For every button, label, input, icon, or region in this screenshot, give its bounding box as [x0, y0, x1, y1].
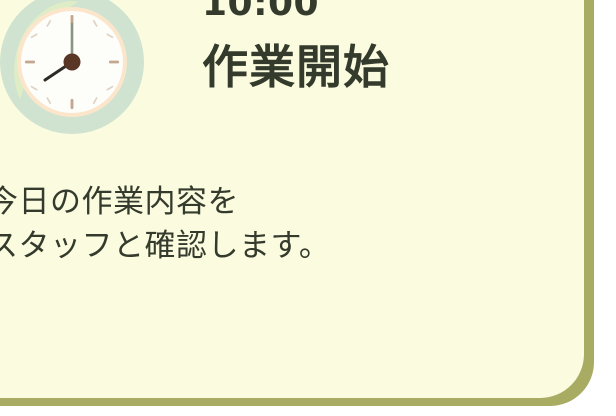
analog-clock-graphic	[0, 0, 152, 141]
schedule-card[interactable]: 10:00 作業開始 今日の作業内容を スタッフと確認します。	[0, 0, 584, 398]
description-line-2: スタッフと確認します。	[0, 224, 547, 268]
header-block: 10:00 作業開始	[202, 0, 542, 93]
time-label: 10:00	[202, 0, 542, 22]
schedule-card-screen: 10:00 作業開始 今日の作業内容を スタッフと確認します。	[0, 0, 616, 416]
card-content: 10:00 作業開始 今日の作業内容を スタッフと確認します。	[0, 0, 584, 398]
description-line-1: 今日の作業内容を	[0, 180, 547, 224]
clock-center-dot	[64, 54, 81, 71]
page-title: 作業開始	[202, 42, 542, 93]
analog-clock-icon	[0, 0, 152, 141]
description-block: 今日の作業内容を スタッフと確認します。	[0, 180, 547, 268]
